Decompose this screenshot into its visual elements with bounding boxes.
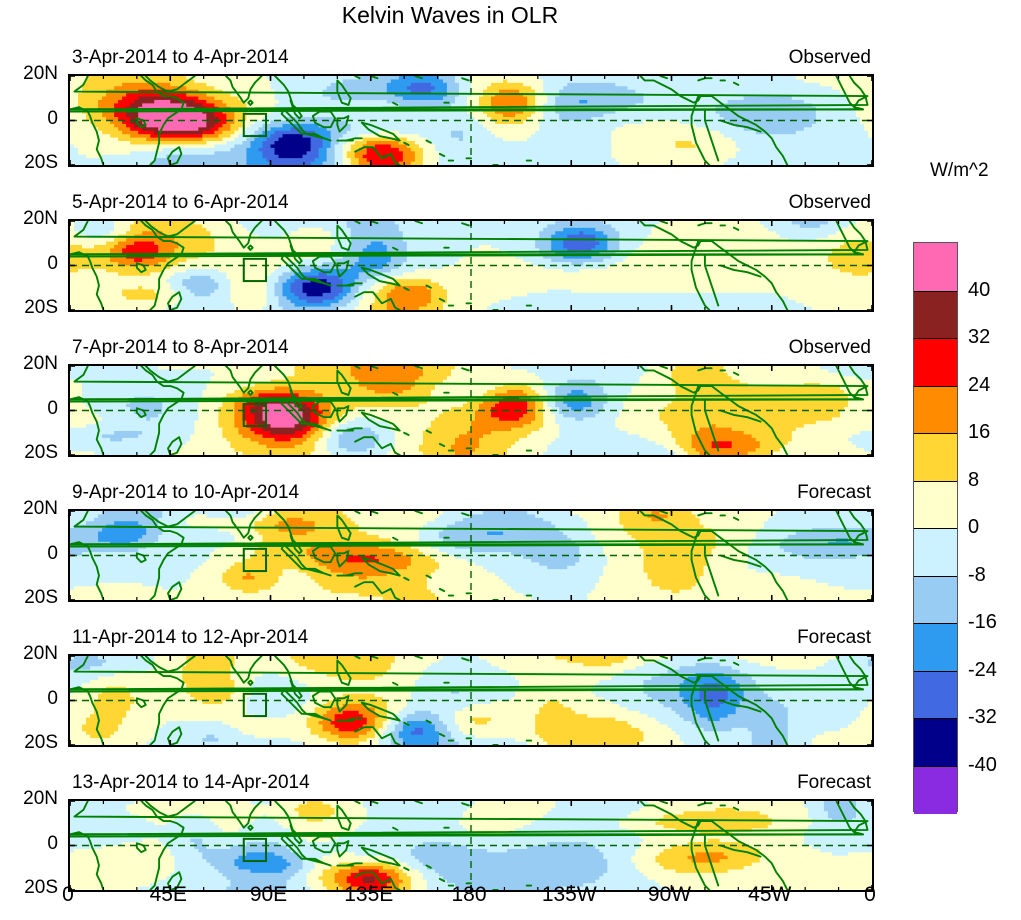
olr-anomaly-field: [70, 76, 872, 165]
x-axis-label: 0: [830, 884, 910, 905]
panel-status-label: Forecast: [797, 628, 871, 647]
y-axis-label: 20N: [0, 209, 58, 228]
colorbar-band: [914, 243, 957, 291]
panel-status-label: Observed: [789, 338, 871, 357]
y-axis-label: 20S: [0, 298, 58, 317]
olr-anomaly-field: [70, 801, 872, 890]
panel-date-range: 7-Apr-2014 to 8-Apr-2014: [72, 338, 289, 357]
colorbar-divider: [914, 718, 957, 719]
y-axis-label: 20S: [0, 733, 58, 752]
map-panel-6: [68, 799, 874, 892]
map-panel-2: [68, 219, 874, 312]
map-panel-1: [68, 74, 874, 167]
colorbar-band: [914, 386, 957, 434]
colorbar-band: [914, 433, 957, 481]
y-axis-label: 20N: [0, 354, 58, 373]
x-axis-label: 45E: [128, 884, 208, 905]
colorbar-divider: [914, 576, 957, 577]
y-axis-label: 0: [0, 109, 58, 128]
y-axis-label: 0: [0, 399, 58, 418]
colorbar-band: [914, 576, 957, 624]
olr-anomaly-field: [70, 511, 872, 600]
y-axis-label: 20N: [0, 499, 58, 518]
x-axis-label: 180: [429, 884, 509, 905]
panel-status-label: Forecast: [797, 483, 871, 502]
colorbar-band: [914, 766, 957, 814]
olr-anomaly-field: [70, 366, 872, 455]
colorbar-band: [914, 671, 957, 719]
colorbar-band: [914, 623, 957, 671]
x-axis-label: 45W: [730, 884, 810, 905]
y-axis-label: 20N: [0, 644, 58, 663]
olr-anomaly-field: [70, 656, 872, 745]
colorbar-band: [914, 481, 957, 529]
colorbar-divider: [914, 291, 957, 292]
colorbar-tick-label: -32: [968, 707, 997, 727]
y-axis-label: 0: [0, 834, 58, 853]
colorbar-divider: [914, 671, 957, 672]
colorbar-band: [914, 291, 957, 339]
colorbar-divider: [914, 481, 957, 482]
colorbar-tick-label: 24: [968, 375, 990, 395]
x-axis-label: 90E: [229, 884, 309, 905]
colorbar-tick-label: 40: [968, 280, 990, 300]
colorbar-divider: [914, 623, 957, 624]
colorbar-tick-label: 16: [968, 422, 990, 442]
x-axis-label: 135E: [329, 884, 409, 905]
panel-status-label: Forecast: [797, 773, 871, 792]
figure-root: Kelvin Waves in OLR 3-Apr-2014 to 4-Apr-…: [0, 0, 1021, 920]
colorbar-tick-label: -40: [968, 755, 997, 775]
y-axis-label: 20S: [0, 588, 58, 607]
map-panel-3: [68, 364, 874, 457]
x-axis-label: 90W: [630, 884, 710, 905]
colorbar-tick-label: 32: [968, 327, 990, 347]
y-axis-label: 20N: [0, 64, 58, 83]
colorbar-band: [914, 528, 957, 576]
panel-date-range: 11-Apr-2014 to 12-Apr-2014: [72, 628, 308, 647]
colorbar: [913, 242, 958, 812]
panel-date-range: 3-Apr-2014 to 4-Apr-2014: [72, 48, 289, 67]
page-title: Kelvin Waves in OLR: [0, 2, 900, 29]
y-axis-label: 20S: [0, 443, 58, 462]
x-axis-label: 0: [28, 884, 108, 905]
colorbar-divider: [914, 528, 957, 529]
colorbar-tick-label: -24: [968, 660, 997, 680]
colorbar-tick-label: 8: [968, 470, 979, 490]
x-axis-label: 135W: [529, 884, 609, 905]
y-axis-label: 20S: [0, 153, 58, 172]
panel-status-label: Observed: [789, 193, 871, 212]
map-panel-5: [68, 654, 874, 747]
olr-anomaly-field: [70, 221, 872, 310]
y-axis-label: 0: [0, 689, 58, 708]
panel-date-range: 13-Apr-2014 to 14-Apr-2014: [72, 773, 310, 792]
colorbar-band: [914, 718, 957, 766]
panel-date-range: 9-Apr-2014 to 10-Apr-2014: [72, 483, 299, 502]
map-panel-4: [68, 509, 874, 602]
panel-status-label: Observed: [789, 48, 871, 67]
panel-date-range: 5-Apr-2014 to 6-Apr-2014: [72, 193, 289, 212]
colorbar-tick-label: -16: [968, 612, 997, 632]
colorbar-tick-label: -8: [968, 565, 986, 585]
y-axis-label: 20N: [0, 789, 58, 808]
colorbar-divider: [914, 338, 957, 339]
colorbar-divider: [914, 433, 957, 434]
colorbar-units-label: W/m^2: [930, 160, 989, 182]
y-axis-label: 0: [0, 254, 58, 273]
colorbar-divider: [914, 766, 957, 767]
colorbar-tick-label: 0: [968, 517, 979, 537]
colorbar-band: [914, 338, 957, 386]
y-axis-label: 0: [0, 544, 58, 563]
colorbar-divider: [914, 386, 957, 387]
